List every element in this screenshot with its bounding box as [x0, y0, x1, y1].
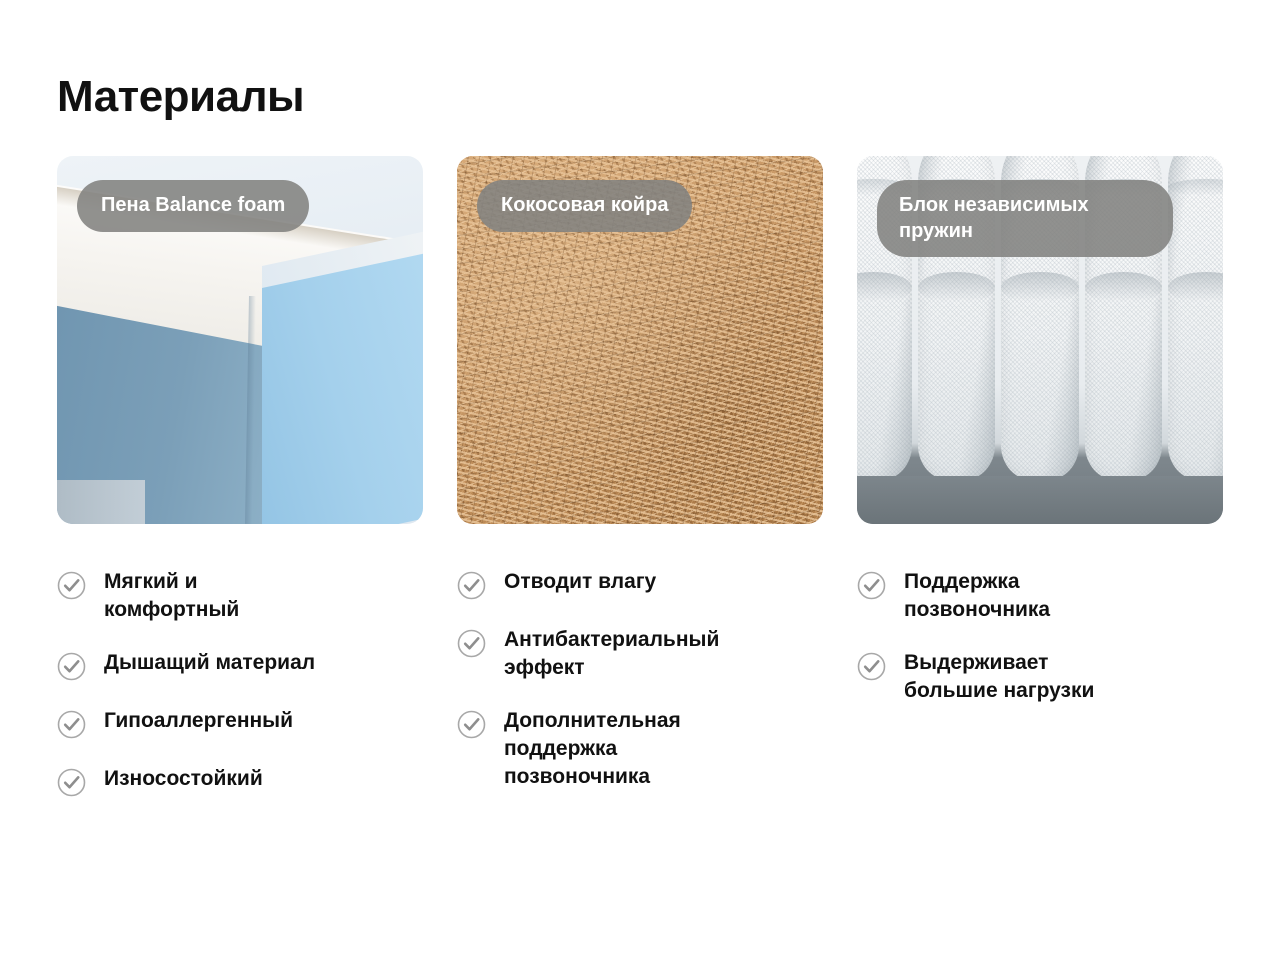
- check-circle-icon: [457, 629, 486, 658]
- list-item-label: Антибактериальный эффект: [504, 626, 719, 681]
- features-independent-springs: Поддержка позвоночника Выдерживает больш…: [857, 568, 1223, 823]
- card-badge-coconut-coir: Кокосовая койра: [477, 180, 692, 232]
- list-item: Мягкий и комфортный: [57, 568, 423, 623]
- foam-floor: [57, 480, 145, 524]
- material-card-balance-foam[interactable]: Пена Balance foam: [57, 156, 423, 524]
- list-item: Дышащий материал: [57, 649, 423, 681]
- features-balance-foam: Мягкий и комфортный Дышащий материал Гип…: [57, 568, 423, 823]
- check-circle-icon: [57, 710, 86, 739]
- check-circle-icon: [457, 710, 486, 739]
- check-circle-icon: [457, 571, 486, 600]
- list-item: Отводит влагу: [457, 568, 823, 600]
- check-circle-icon: [57, 571, 86, 600]
- list-item: Антибактериальный эффект: [457, 626, 823, 681]
- spring-unit: [1168, 156, 1223, 480]
- feature-columns: Мягкий и комфортный Дышащий материал Гип…: [57, 568, 1223, 823]
- list-item-label: Поддержка позвоночника: [904, 568, 1050, 623]
- check-circle-icon: [857, 652, 886, 681]
- material-card-coconut-coir[interactable]: Кокосовая койра: [457, 156, 823, 524]
- material-card-independent-springs[interactable]: Блок независимых пружин: [857, 156, 1223, 524]
- check-circle-icon: [57, 652, 86, 681]
- list-item-label: Мягкий и комфортный: [104, 568, 239, 623]
- list-item-label: Отводит влагу: [504, 568, 656, 596]
- list-item-label: Гипоаллергенный: [104, 707, 293, 735]
- check-circle-icon: [857, 571, 886, 600]
- card-badge-independent-springs: Блок независимых пружин: [877, 180, 1173, 257]
- check-circle-icon: [57, 768, 86, 797]
- list-item-label: Выдерживает большие нагрузки: [904, 649, 1094, 704]
- material-cards-row: Пена Balance foam Кокосовая койра Бл: [57, 156, 1223, 524]
- list-item: Дополнительная поддержка позвоночника: [457, 707, 823, 790]
- materials-slide: Материалы Пена Balance foam Кокосовая ко…: [0, 0, 1280, 960]
- springs-floor: [857, 476, 1223, 524]
- list-item-label: Дополнительная поддержка позвоночника: [504, 707, 681, 790]
- foam-right-face: [262, 243, 423, 524]
- list-item: Выдерживает большие нагрузки: [857, 649, 1223, 704]
- page-title: Материалы: [57, 73, 304, 121]
- list-item: Износостойкий: [57, 765, 423, 797]
- list-item-label: Износостойкий: [104, 765, 263, 793]
- features-coconut-coir: Отводит влагу Антибактериальный эффект Д…: [457, 568, 823, 823]
- list-item-label: Дышащий материал: [104, 649, 315, 677]
- list-item: Гипоаллергенный: [57, 707, 423, 739]
- card-badge-balance-foam: Пена Balance foam: [77, 180, 309, 232]
- list-item: Поддержка позвоночника: [857, 568, 1223, 623]
